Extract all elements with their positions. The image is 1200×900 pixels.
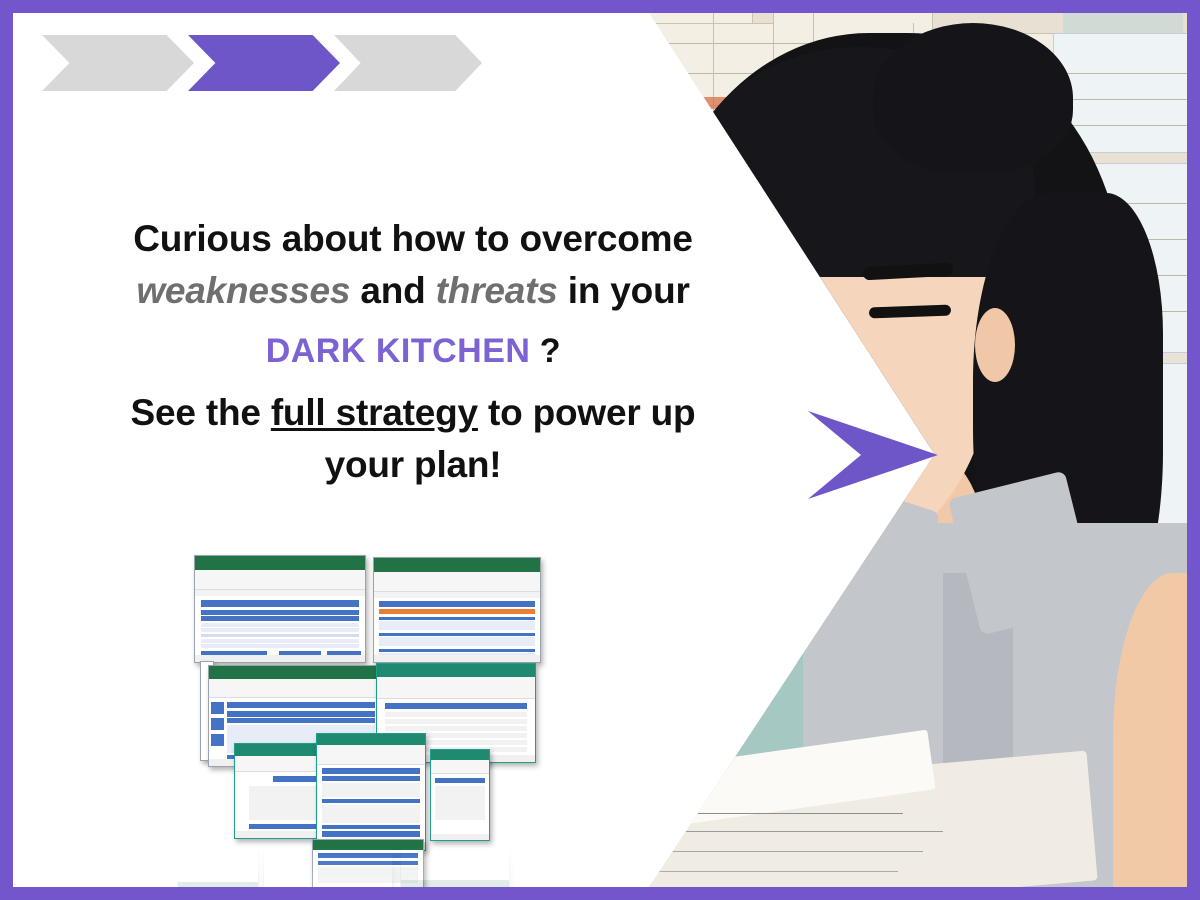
excel-sheet-tabs[interactable] (374, 655, 540, 662)
sidebar-band (211, 702, 224, 714)
step-indicator (42, 35, 482, 91)
excel-title-bar (374, 558, 540, 572)
slide-root: Curious about how to overcome weaknesses… (0, 0, 1200, 900)
reflection-thumbnail (400, 845, 510, 887)
nose (813, 343, 821, 401)
cta-link[interactable]: full strategy (271, 392, 478, 433)
headline-line-1-text: Curious about how to overcome (133, 218, 693, 259)
excel-title-bar (317, 734, 425, 745)
hair-bun (873, 23, 1073, 173)
headline-threats: threats (436, 270, 558, 311)
ear (975, 308, 1015, 382)
document-rule (1053, 99, 1187, 100)
spreadsheet-thumbnail[interactable] (430, 749, 490, 841)
headline-question-mark: ? (540, 332, 561, 370)
table-row (201, 628, 359, 632)
table-header (379, 649, 535, 652)
table-header (227, 718, 375, 723)
headline-block: Curious about how to overcome weaknesses… (33, 213, 793, 491)
excel-ribbon (377, 677, 535, 699)
headline-weaknesses: weaknesses (136, 270, 350, 311)
table-header (201, 610, 359, 615)
document-rule (613, 13, 614, 213)
sheet-title-band (435, 778, 485, 783)
spreadsheet-thumbnail[interactable] (194, 555, 366, 663)
table-row (322, 805, 420, 823)
step-chevron-2[interactable] (188, 35, 340, 91)
headline-inyour: in your (558, 270, 690, 311)
excel-title-bar (401, 880, 509, 887)
table-row (201, 644, 359, 648)
excel-sheet-tabs[interactable] (431, 834, 489, 840)
sidebar-band (211, 734, 224, 746)
excel-ribbon (374, 572, 540, 592)
document-rule (573, 173, 773, 174)
table-row (201, 634, 359, 637)
document-rule (573, 209, 753, 210)
headline-line-4: See the full strategy to power up (33, 387, 793, 439)
spreadsheet-thumbnail[interactable] (316, 733, 426, 851)
table-row (385, 726, 527, 731)
excel-ribbon (209, 679, 379, 698)
table-header (322, 776, 420, 781)
sheet-title-band (379, 601, 535, 607)
cta-prefix: See the (131, 392, 271, 433)
newspaper-line (613, 831, 943, 832)
excel-title-bar (209, 666, 379, 679)
newspaper-line (603, 813, 903, 814)
excel-title-bar (178, 882, 258, 887)
headline-and: and (350, 270, 435, 311)
excel-ribbon (317, 745, 425, 765)
table-row (379, 621, 535, 630)
excel-ribbon (431, 760, 489, 774)
step-chevron-1[interactable] (42, 35, 194, 91)
sheet-title-band (322, 768, 420, 774)
newspaper-line (623, 851, 923, 852)
table-row (201, 623, 359, 627)
table-row (385, 712, 527, 717)
section-band (379, 609, 535, 614)
table-header (379, 617, 535, 620)
excel-sheet-tabs[interactable] (195, 655, 365, 662)
table-header (379, 633, 535, 636)
table-header (201, 616, 359, 621)
reflection-thumbnail (263, 845, 393, 887)
table-row (379, 637, 535, 646)
table-row (435, 786, 485, 820)
table-row (322, 783, 420, 797)
excel-title-bar (195, 556, 365, 570)
newspaper-line (638, 871, 898, 872)
sidebar-band (211, 718, 224, 730)
excel-grid (374, 598, 540, 662)
table-row (385, 719, 527, 724)
excel-grid (431, 774, 489, 840)
table-header (322, 825, 420, 829)
table-row (201, 639, 359, 643)
table-header (227, 711, 375, 717)
excel-title-bar (377, 664, 535, 677)
lips (795, 421, 889, 447)
slide-canvas: Curious about how to overcome weaknesses… (13, 13, 1187, 887)
cta-line2: your plan! (325, 444, 502, 485)
headline-line-5: your plan! (33, 439, 793, 491)
collage-reflection (178, 845, 538, 887)
excel-title-bar (431, 750, 489, 760)
sheet-title-band (201, 600, 359, 607)
sheet-title-band (227, 702, 375, 708)
headline-line-3: DARK KITCHEN ? (33, 325, 793, 377)
headline-line-1: Curious about how to overcome (33, 213, 793, 265)
reflection-thumbnail (178, 845, 259, 887)
spreadsheet-thumbnail[interactable] (373, 557, 541, 663)
document-rule (1053, 73, 1187, 74)
excel-template-previews[interactable] (178, 543, 538, 887)
excel-ribbon (195, 570, 365, 590)
document-rule (713, 13, 714, 213)
table-total (322, 831, 420, 837)
excel-grid (317, 765, 425, 850)
step-chevron-3[interactable] (334, 35, 482, 91)
headline-line-2: weaknesses and threats in your (33, 265, 793, 317)
table-header (322, 799, 420, 803)
headline-keyword: DARK KITCHEN (266, 332, 531, 370)
excel-grid (195, 596, 365, 662)
sheet-title-band (385, 703, 527, 709)
cta-suffix: to power up (478, 392, 696, 433)
